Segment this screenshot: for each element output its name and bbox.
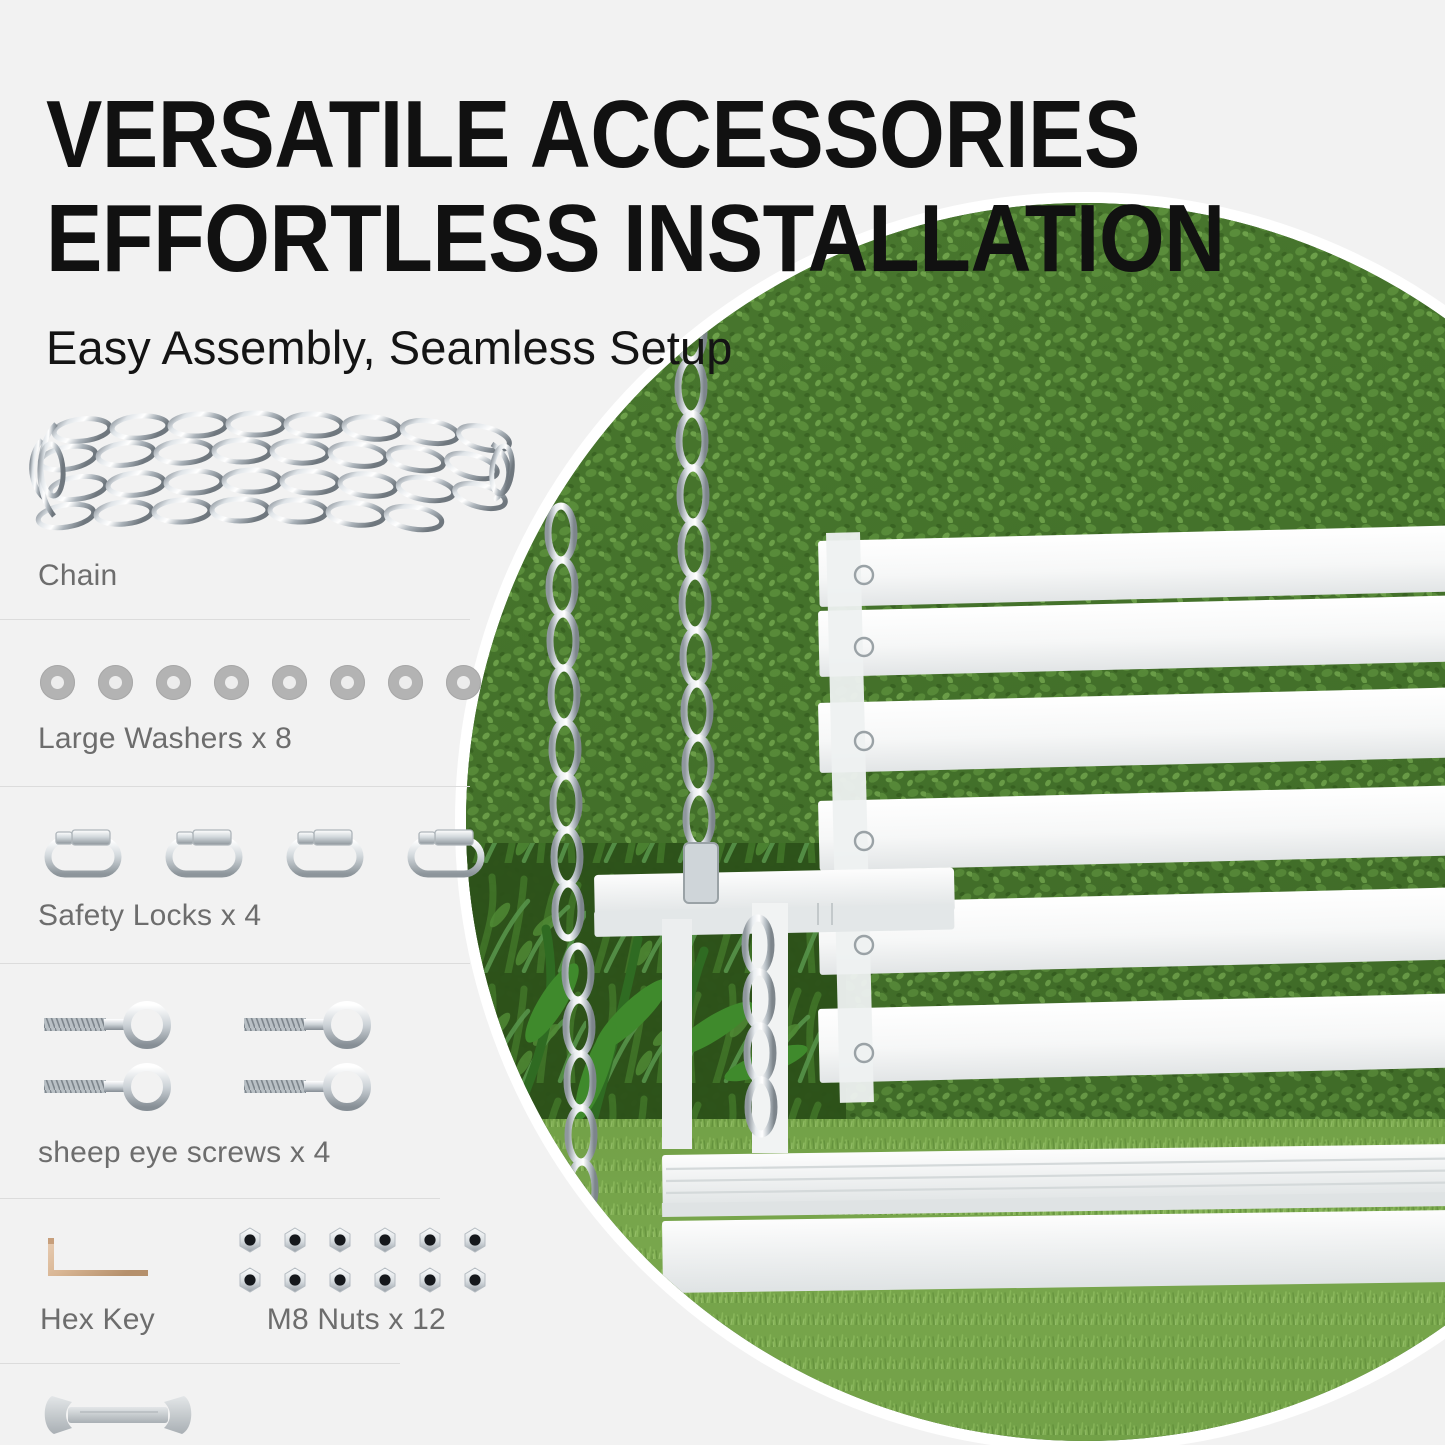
hex-nut-icon: [463, 1267, 487, 1293]
eye-screw-icon-group: [40, 994, 520, 1118]
washer-icon: [214, 665, 249, 700]
hex-nut-icon: [328, 1267, 352, 1293]
washer-icon: [156, 665, 191, 700]
quick-link-icon-group: [42, 821, 520, 883]
hex-nut-icon: [418, 1227, 442, 1253]
marketing-banner: VERSATILE ACCESSORIES EFFORTLESS INSTALL…: [0, 0, 1445, 1445]
washer-icon-group: [40, 660, 520, 704]
chain-bracket: [684, 843, 718, 903]
hex-nut-icon-group: [238, 1225, 487, 1295]
open-end-wrench-icon: [38, 1386, 198, 1444]
divider: [0, 1198, 440, 1199]
accessory-label-chain: Chain: [38, 559, 520, 593]
eye-screw-icon: [40, 1062, 180, 1112]
eye-screw-icon: [240, 1000, 380, 1050]
divider: [0, 619, 470, 620]
eye-screw-icon: [240, 1062, 380, 1112]
accessory-item-hex-key-and-nuts: Hex Key M8 Nuts x 12: [0, 1223, 520, 1337]
hex-nut-icon: [238, 1267, 262, 1293]
hex-nut-icon: [283, 1267, 307, 1293]
accessory-label-washers: Large Washers x 8: [38, 722, 520, 756]
quick-link-icon: [163, 826, 247, 878]
divider: [0, 786, 470, 787]
hex-nut-icon: [328, 1227, 352, 1253]
hex-nut-icon: [373, 1227, 397, 1253]
washer-icon: [330, 665, 365, 700]
accessory-label-eye-screws: sheep eye screws x 4: [38, 1136, 520, 1170]
subheadline: Easy Assembly, Seamless Setup: [46, 320, 732, 375]
accessory-item-washers: Large Washers x 8: [0, 660, 520, 756]
quick-link-icon: [405, 826, 489, 878]
headline: VERSATILE ACCESSORIES EFFORTLESS INSTALL…: [46, 88, 935, 286]
accessory-item-eye-screws: sheep eye screws x 4: [0, 994, 520, 1170]
accessory-item-safety-locks: Safety Locks x 4: [0, 821, 520, 933]
washer-icon: [388, 665, 423, 700]
product-photo-circle: [455, 192, 1445, 1445]
eye-screw-icon: [40, 1000, 180, 1050]
hex-nut-icon: [463, 1227, 487, 1253]
hex-key-icon: [36, 1230, 156, 1290]
chain-coil-icon: [22, 400, 527, 555]
divider: [0, 963, 470, 964]
quick-link-icon: [284, 826, 368, 878]
headline-line-1: VERSATILE ACCESSORIES: [46, 81, 1140, 188]
accessory-item-chain: Chain: [0, 400, 520, 593]
hex-nut-icon: [283, 1227, 307, 1253]
divider: [0, 1363, 400, 1364]
headline-line-2: EFFORTLESS INSTALLATION: [46, 192, 935, 286]
washer-icon: [272, 665, 307, 700]
accessory-item-wrench: Open-end Wrench: [0, 1380, 520, 1445]
quick-link-icon: [42, 826, 126, 878]
accessory-label-m8-nuts: M8 Nuts x 12: [267, 1303, 446, 1337]
hex-nut-icon: [418, 1267, 442, 1293]
product-photo: [466, 203, 1445, 1441]
accessory-label-hex-key: Hex Key: [40, 1303, 155, 1337]
washer-icon: [446, 665, 481, 700]
hex-nut-icon: [238, 1227, 262, 1253]
washer-icon: [98, 665, 133, 700]
porch-swing-photo-svg: [466, 203, 1445, 1441]
accessory-label-safety-locks: Safety Locks x 4: [38, 899, 520, 933]
washer-icon: [40, 665, 75, 700]
hex-nut-icon: [373, 1267, 397, 1293]
accessory-list: Chain Large Washers x 8: [0, 400, 520, 1445]
